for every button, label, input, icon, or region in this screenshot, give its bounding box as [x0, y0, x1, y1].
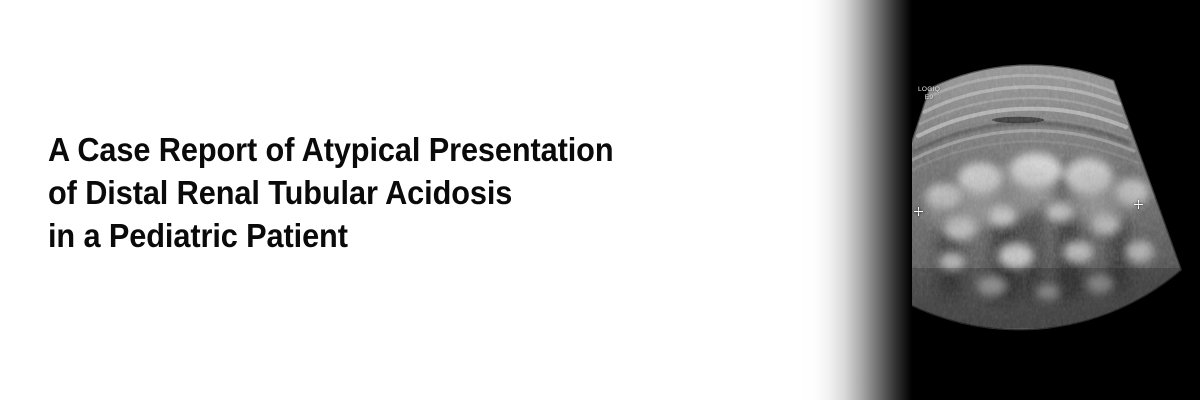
title-line-3: in a Pediatric Patient: [48, 214, 736, 257]
page-title: A Case Report of Atypical Presentation o…: [48, 128, 788, 257]
article-banner: A Case Report of Atypical Presentation o…: [0, 0, 1200, 400]
title-line-2: of Distal Renal Tubular Acidosis: [48, 171, 736, 214]
title-line-1: A Case Report of Atypical Presentation: [48, 128, 736, 171]
caliper-marker-left: [914, 207, 923, 216]
caliper-marker-right: [1134, 200, 1143, 209]
media-panel: LOGIQ E9: [800, 0, 1200, 400]
ultrasound-machine-label: LOGIQ E9: [918, 86, 940, 101]
